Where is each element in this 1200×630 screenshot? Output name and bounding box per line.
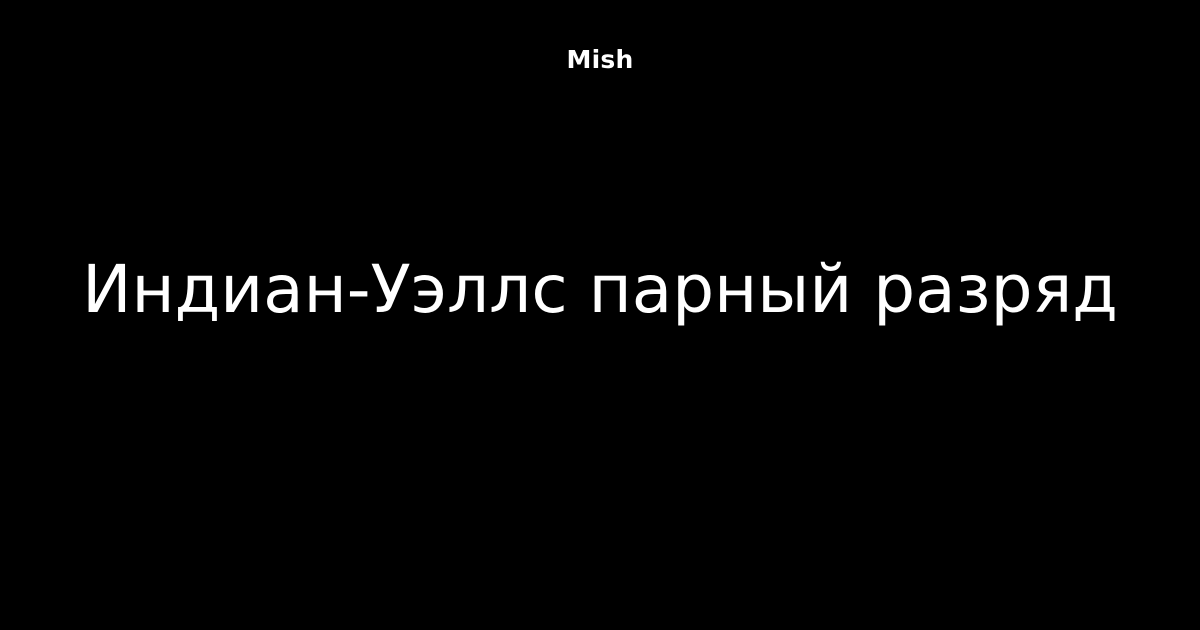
brand-label: Mish: [567, 47, 634, 72]
brand-row: Mish: [0, 0, 1200, 130]
share-card: Mish Индиан-Уэллс парный разряд: [0, 0, 1200, 630]
empty-lower-area: [0, 380, 1200, 630]
page-title: Индиан-Уэллс парный разряд: [82, 253, 1118, 327]
headline-container: Индиан-Уэллс парный разряд: [0, 200, 1200, 380]
